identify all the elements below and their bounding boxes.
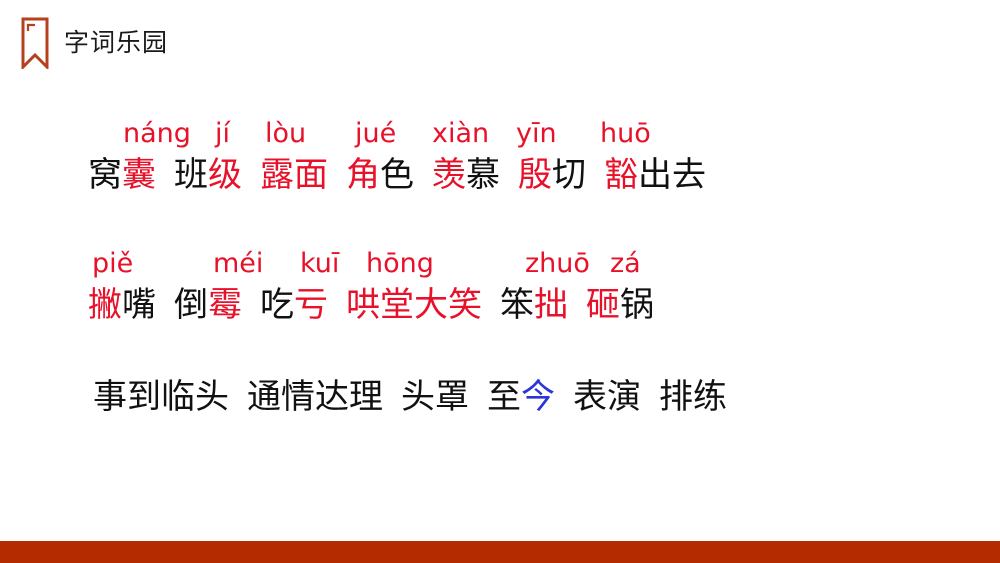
hanzi-char: 面 — [294, 152, 328, 198]
pinyin-item: jué — [355, 116, 396, 152]
hanzi-char: 级 — [208, 152, 242, 198]
hanzi-char: 撇 — [88, 282, 122, 328]
hanzi-char: 露 — [260, 152, 294, 198]
pinyin-item: náng — [123, 116, 191, 152]
hanzi-char: 色 — [380, 152, 414, 198]
hanzi-char: 角 — [346, 152, 380, 198]
pinyin-item: lòu — [265, 116, 306, 152]
hanzi-char: 嘴 — [122, 282, 156, 328]
hanzi-char: 堂 — [380, 282, 414, 328]
pinyin-row-2: piě méi kuī hōng zhuō zá — [88, 246, 1000, 282]
word-item: 排练 — [659, 374, 727, 420]
word-group-1: náng jí lòu jué xiàn yīn huō 窝囊班级露面角色羡慕殷… — [0, 116, 1000, 198]
word-item: 哄堂大笑 — [346, 282, 482, 328]
pinyin-item: jí — [215, 116, 230, 152]
hanzi-char: 到 — [127, 374, 161, 420]
hanzi-char: 临 — [161, 374, 195, 420]
hanzi-char: 倒 — [174, 282, 208, 328]
slide-header: 字词乐园 — [0, 0, 1000, 86]
hanzi-char: 达 — [315, 374, 349, 420]
hanzi-char: 至 — [487, 374, 521, 420]
word-item: 事到临头 — [93, 374, 229, 420]
word-item: 窝囊 — [88, 152, 156, 198]
slide-content: náng jí lòu jué xiàn yīn huō 窝囊班级露面角色羡慕殷… — [0, 116, 1000, 420]
hanzi-char: 头 — [195, 374, 229, 420]
footer-accent-bar — [0, 541, 1000, 563]
pinyin-item: piě — [92, 246, 133, 282]
word-item: 撇嘴 — [88, 282, 156, 328]
word-item: 露面 — [260, 152, 328, 198]
hanzi-char: 表 — [573, 374, 607, 420]
hanzi-char: 去 — [672, 152, 706, 198]
hanzi-char: 通 — [247, 374, 281, 420]
page-title: 字词乐园 — [64, 31, 168, 56]
hanzi-char: 演 — [607, 374, 641, 420]
hanzi-char: 笑 — [448, 282, 482, 328]
pinyin-item: zá — [610, 246, 641, 282]
hanzi-row-3: 事到临头通情达理头罩至今表演排练 — [0, 374, 1000, 420]
hanzi-char: 霉 — [208, 282, 242, 328]
word-item: 吃亏 — [260, 282, 328, 328]
hanzi-char: 羡 — [432, 152, 466, 198]
word-item: 通情达理 — [247, 374, 383, 420]
hanzi-char: 今 — [521, 374, 555, 420]
hanzi-char: 囊 — [122, 152, 156, 198]
hanzi-char: 锅 — [620, 282, 654, 328]
hanzi-char: 大 — [414, 282, 448, 328]
hanzi-char: 亏 — [294, 282, 328, 328]
word-item: 笨拙 — [500, 282, 568, 328]
hanzi-char: 练 — [693, 374, 727, 420]
bookmark-icon — [20, 17, 50, 69]
word-item: 羡慕 — [432, 152, 500, 198]
hanzi-char: 理 — [349, 374, 383, 420]
hanzi-char: 切 — [552, 152, 586, 198]
hanzi-char: 豁 — [604, 152, 638, 198]
pinyin-item: méi — [213, 246, 263, 282]
hanzi-char: 事 — [93, 374, 127, 420]
word-item: 表演 — [573, 374, 641, 420]
hanzi-row-1: 窝囊班级露面角色羡慕殷切豁出去 — [88, 152, 1000, 198]
word-item: 班级 — [174, 152, 242, 198]
word-item: 头罩 — [401, 374, 469, 420]
word-item: 殷切 — [518, 152, 586, 198]
pinyin-item: zhuō — [525, 246, 590, 282]
word-group-2: piě méi kuī hōng zhuō zá 撇嘴倒霉吃亏哄堂大笑笨拙砸锅 — [0, 246, 1000, 328]
hanzi-char: 吃 — [260, 282, 294, 328]
hanzi-char: 慕 — [466, 152, 500, 198]
hanzi-char: 殷 — [518, 152, 552, 198]
pinyin-item: yīn — [516, 116, 557, 152]
hanzi-char: 笨 — [500, 282, 534, 328]
hanzi-char: 哄 — [346, 282, 380, 328]
hanzi-char: 情 — [281, 374, 315, 420]
hanzi-char: 出 — [638, 152, 672, 198]
pinyin-item: huō — [600, 116, 651, 152]
word-item: 砸锅 — [586, 282, 654, 328]
hanzi-char: 排 — [659, 374, 693, 420]
pinyin-item: hōng — [366, 246, 434, 282]
pinyin-row-1: náng jí lòu jué xiàn yīn huō — [88, 116, 1000, 152]
word-item: 至今 — [487, 374, 555, 420]
pinyin-item: xiàn — [432, 116, 489, 152]
hanzi-char: 班 — [174, 152, 208, 198]
hanzi-char: 罩 — [435, 374, 469, 420]
pinyin-item: kuī — [300, 246, 339, 282]
word-item: 倒霉 — [174, 282, 242, 328]
hanzi-char: 砸 — [586, 282, 620, 328]
word-item: 豁出去 — [604, 152, 706, 198]
word-item: 角色 — [346, 152, 414, 198]
hanzi-row-2: 撇嘴倒霉吃亏哄堂大笑笨拙砸锅 — [88, 282, 1000, 328]
hanzi-char: 窝 — [88, 152, 122, 198]
hanzi-char: 头 — [401, 374, 435, 420]
hanzi-char: 拙 — [534, 282, 568, 328]
